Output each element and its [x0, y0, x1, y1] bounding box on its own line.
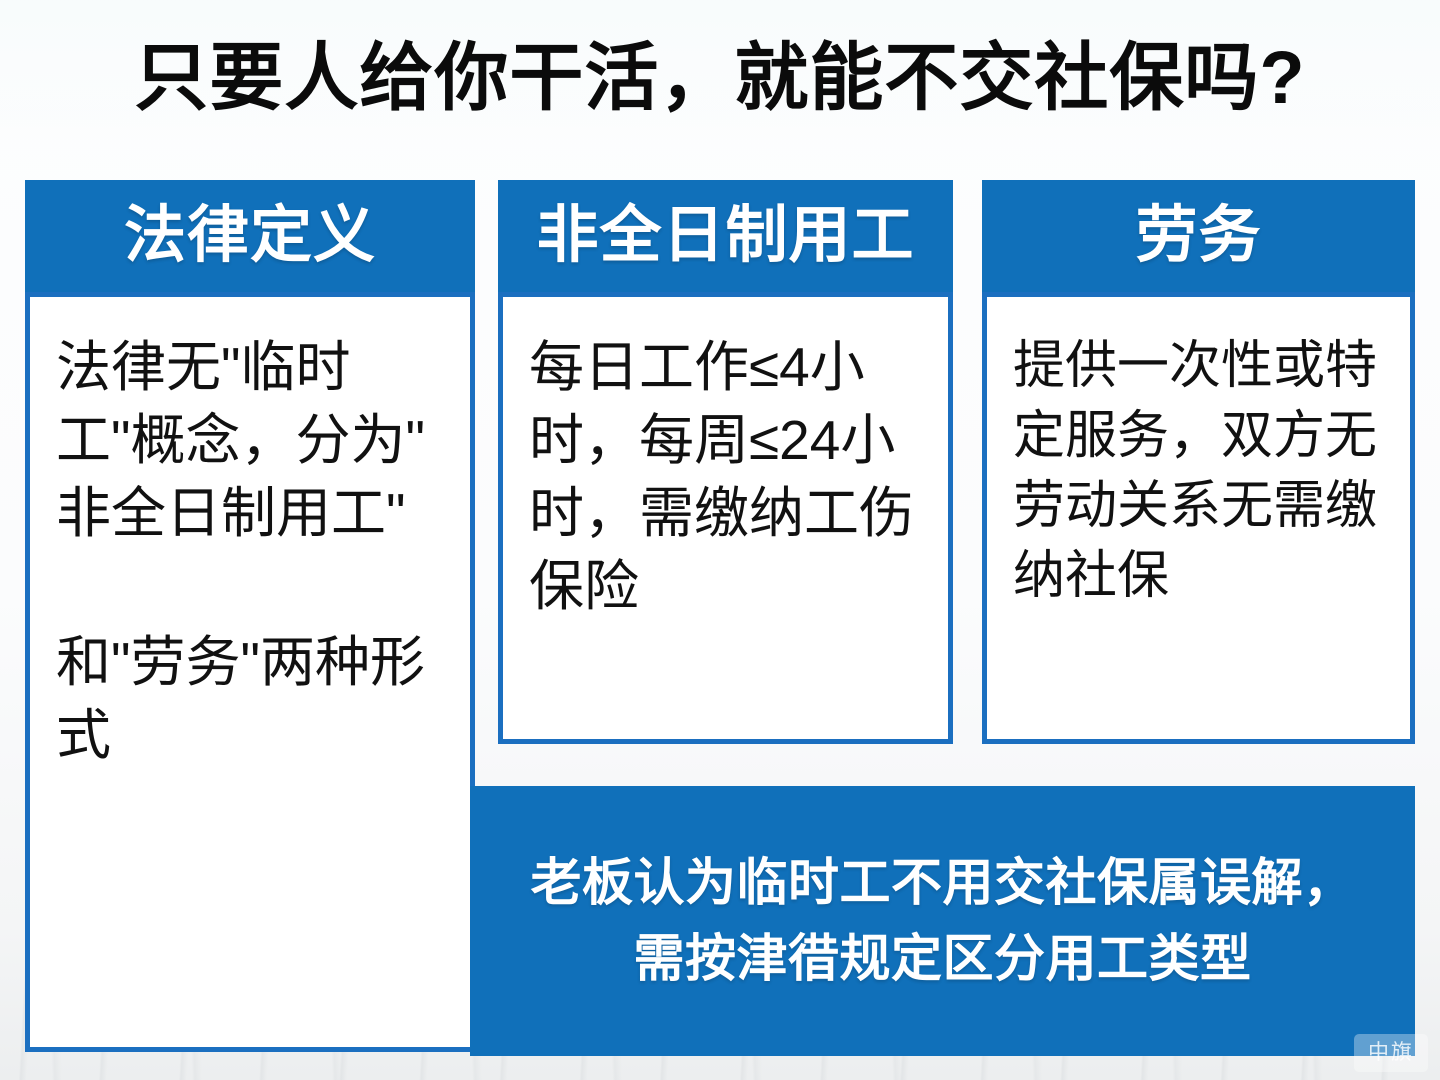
infographic-slide: 只要人给你干活，就能不交社保吗? 法律定义 法律无"临时工"概念，分为" 非全日… [0, 0, 1440, 1080]
column-body-labor-service: 提供一次性或特定服务，双方无劳动关系无需缴纳社保 [982, 292, 1415, 744]
column-header-labor-service: 劳务 [982, 180, 1415, 292]
column-legal-definition: 法律定义 法律无"临时工"概念，分为" 非全日制用工" 和"劳务"两种形式 [25, 180, 475, 1052]
page-title: 只要人给你干活，就能不交社保吗? [0, 36, 1440, 120]
column-paragraph: 法律无"临时工"概念，分为" 非全日制用工" [56, 331, 444, 550]
column-paragraph: 提供一次性或特定服务，双方无劳动关系无需缴纳社保 [1013, 331, 1384, 611]
column-body-part-time-employment: 每日工作≤4小时，每周≤24小时，需缴纳工伤保险 [498, 292, 953, 744]
column-part-time-employment: 非全日制用工 每日工作≤4小时，每周≤24小时，需缴纳工伤保险 [498, 180, 953, 744]
watermark-badge: 中旗 [1354, 1034, 1428, 1072]
conclusion-banner: 老板认为临时工不用交社保属误解， 需按津徣规定区分用工类型 [470, 786, 1415, 1056]
conclusion-banner-line-1: 老板认为临时工不用交社保属误解， [530, 845, 1354, 921]
column-header-legal-definition: 法律定义 [25, 180, 475, 292]
column-paragraph: 和"劳务"两种形式 [56, 626, 444, 772]
column-paragraph: 每日工作≤4小时，每周≤24小时，需缴纳工伤保险 [529, 331, 922, 623]
column-labor-service: 劳务 提供一次性或特定服务，双方无劳动关系无需缴纳社保 [982, 180, 1415, 744]
column-header-part-time-employment: 非全日制用工 [498, 180, 953, 292]
conclusion-banner-line-2: 需按津徣规定区分用工类型 [633, 921, 1251, 997]
column-body-legal-definition: 法律无"临时工"概念，分为" 非全日制用工" 和"劳务"两种形式 [25, 292, 475, 1052]
